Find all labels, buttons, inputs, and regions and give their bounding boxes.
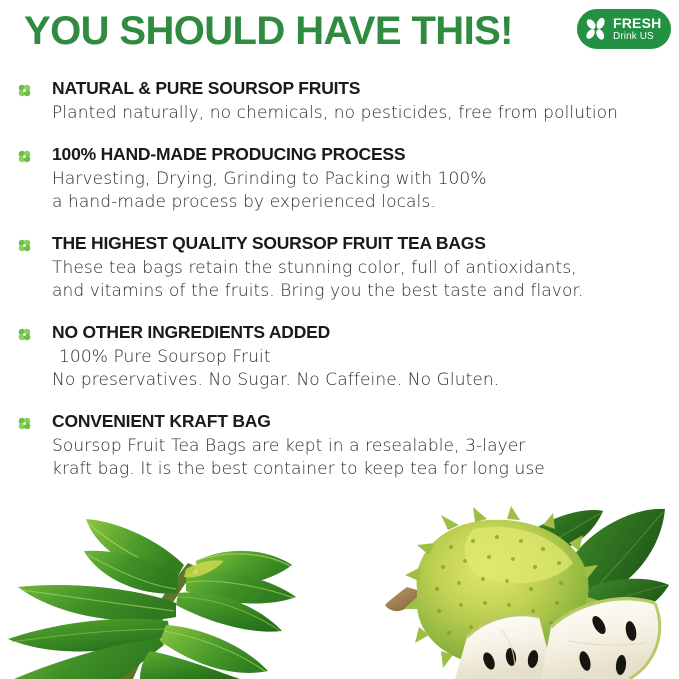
feature-heading: 100% HAND-MADE PRODUCING PROCESS <box>52 144 679 166</box>
header: YOU SHOULD HAVE THIS! FRESH Drink US <box>0 0 679 70</box>
feature-item: NO OTHER INGREDIENTS ADDED 100% Pure Sou… <box>0 322 679 392</box>
feature-line: and vitamins of the fruits. Bring you th… <box>52 280 679 303</box>
feature-heading: THE HIGHEST QUALITY SOURSOP FRUIT TEA BA… <box>52 233 679 255</box>
feature-line: kraft bag. It is the best container to k… <box>52 458 679 481</box>
feature-heading: NATURAL & PURE SOURSOP FRUITS <box>52 78 679 100</box>
clover-bullet-icon <box>17 238 32 253</box>
feature-line: Planted naturally, no chemicals, no pest… <box>52 102 679 125</box>
soursop-fruit-with-slices-photo <box>355 505 679 679</box>
feature-body: Planted naturally, no chemicals, no pest… <box>52 102 679 125</box>
soursop-leaf-branch-photo <box>0 505 320 679</box>
feature-list: NATURAL & PURE SOURSOP FRUITS Planted na… <box>0 78 679 500</box>
badge-primary-text: FRESH <box>613 16 661 30</box>
feature-item: THE HIGHEST QUALITY SOURSOP FRUIT TEA BA… <box>0 233 679 303</box>
clover-bullet-icon <box>17 149 32 164</box>
feature-body: Harvesting, Drying, Grinding to Packing … <box>52 168 679 214</box>
leaf-sprout-icon <box>582 14 612 44</box>
badge-secondary-text: Drink US <box>613 32 661 42</box>
feature-body: These tea bags retain the stunning color… <box>52 257 679 303</box>
feature-line: No preservatives. No Sugar. No Caffeine.… <box>52 369 679 392</box>
feature-item: 100% HAND-MADE PRODUCING PROCESS Harvest… <box>0 144 679 214</box>
clover-bullet-icon <box>17 327 32 342</box>
feature-heading: CONVENIENT KRAFT BAG <box>52 411 679 433</box>
product-feature-infographic: YOU SHOULD HAVE THIS! FRESH Drink US <box>0 0 679 679</box>
product-imagery <box>0 505 679 679</box>
feature-item: NATURAL & PURE SOURSOP FRUITS Planted na… <box>0 78 679 125</box>
badge-text-group: FRESH Drink US <box>613 16 661 42</box>
feature-line: Soursop Fruit Tea Bags are kept in a res… <box>52 435 679 458</box>
feature-item: CONVENIENT KRAFT BAG Soursop Fruit Tea B… <box>0 411 679 481</box>
feature-line: 100% Pure Soursop Fruit <box>52 346 679 369</box>
feature-body: 100% Pure Soursop Fruit No preservatives… <box>52 346 679 392</box>
clover-bullet-icon <box>17 83 32 98</box>
feature-body: Soursop Fruit Tea Bags are kept in a res… <box>52 435 679 481</box>
feature-line: Harvesting, Drying, Grinding to Packing … <box>52 168 679 191</box>
feature-line: These tea bags retain the stunning color… <box>52 257 679 280</box>
clover-bullet-icon <box>17 416 32 431</box>
brand-badge: FRESH Drink US <box>577 9 671 49</box>
feature-line: a hand-made process by experienced local… <box>52 191 679 214</box>
page-title: YOU SHOULD HAVE THIS! <box>24 9 513 54</box>
feature-heading: NO OTHER INGREDIENTS ADDED <box>52 322 679 344</box>
